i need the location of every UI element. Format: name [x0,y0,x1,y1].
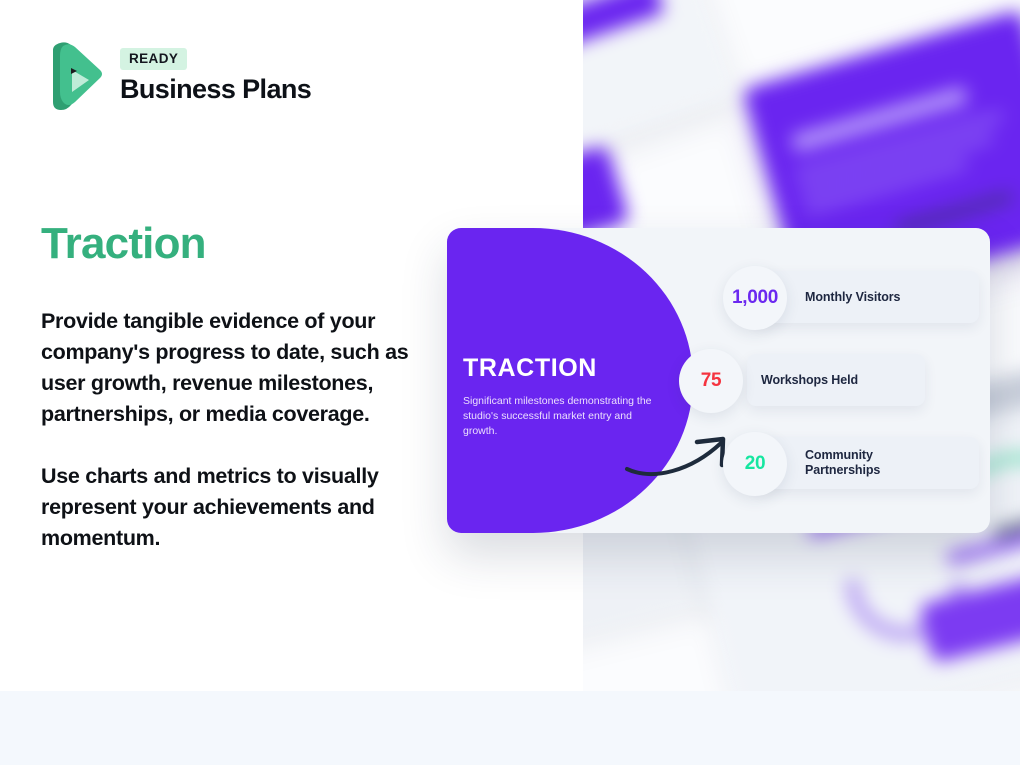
ready-badge: READY [120,48,187,70]
body-copy: Provide tangible evidence of your compan… [41,306,436,554]
bg-shape [583,0,665,94]
metric-bubble: 20 [723,432,787,496]
slide-title: TRACTION [463,354,597,383]
metric-bubble: 75 [679,349,743,413]
metric-list: 1,000 Monthly Visitors 75 Workshops Held… [723,266,973,515]
metric-label: Community Partnerships [805,432,935,494]
metric-bubble: 1,000 [723,266,787,330]
brand-text: READY Business Plans [120,48,311,105]
purple-blob-shape: TRACTION Significant milestones demonstr… [447,228,693,533]
page-root: READY Business Plans Traction Provide ta… [0,0,1020,765]
metric-label: Monthly Visitors [805,266,935,328]
bottom-band [0,691,1020,765]
brand-logo: READY Business Plans [41,40,311,112]
metric-value: 75 [701,370,722,392]
metric-row[interactable]: 1,000 Monthly Visitors [723,266,973,328]
bg-shape [791,86,969,152]
page-title: Traction [41,219,206,269]
metric-label: Workshops Held [761,349,891,411]
play-triangle-logo-icon [41,40,103,112]
slide-preview-card[interactable]: TRACTION Significant milestones demonstr… [447,228,990,533]
body-paragraph-2: Use charts and metrics to visually repre… [41,461,436,554]
body-paragraph-1: Provide tangible evidence of your compan… [41,306,436,430]
metric-row[interactable]: 75 Workshops Held [723,349,973,411]
metric-value: 20 [745,453,766,475]
brand-name: Business Plans [120,74,311,105]
metric-row[interactable]: 20 Community Partnerships [723,432,973,494]
metric-value: 1,000 [732,287,778,309]
